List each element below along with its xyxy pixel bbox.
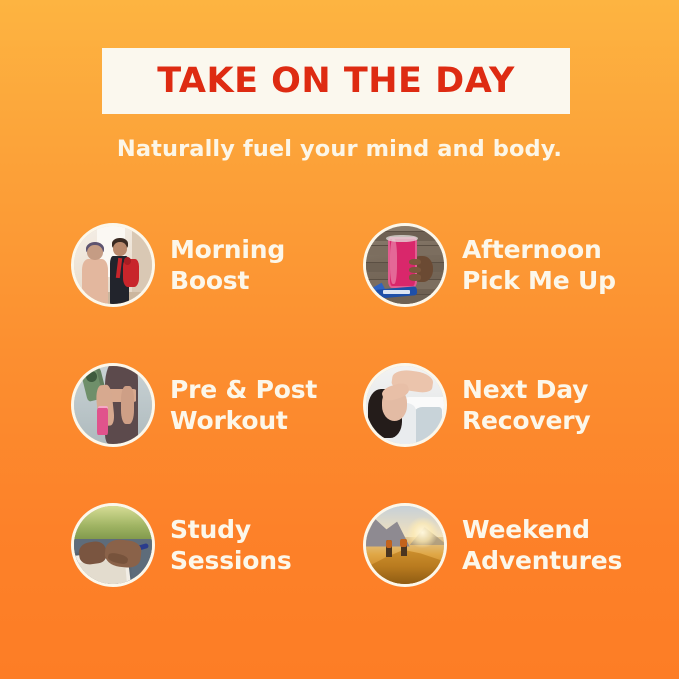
page-title: TAKE ON THE DAY [157,64,515,99]
feature-item-next-day-recovery: Next Day Recovery [363,363,590,447]
feature-item-study-sessions: Study Sessions [71,503,292,587]
next-day-recovery-photo [363,363,447,447]
title-banner: TAKE ON THE DAY [102,48,570,114]
afternoon-pick-me-up-photo [363,223,447,307]
feature-item-weekend-adventures: Weekend Adventures [363,503,622,587]
subtitle: Naturally fuel your mind and body. [0,136,679,162]
feature-label: Weekend Adventures [462,514,622,576]
weekend-adventures-photo [363,503,447,587]
feature-label: Morning Boost [170,234,285,296]
feature-label: Afternoon Pick Me Up [462,234,616,296]
pre-post-workout-photo [71,363,155,447]
feature-label: Study Sessions [170,514,292,576]
study-sessions-photo [71,503,155,587]
feature-item-morning-boost: Morning Boost [71,223,285,307]
feature-label: Next Day Recovery [462,374,590,436]
feature-grid: Morning Boost Afternoon Pick Me Up Pre &… [0,195,679,615]
morning-boost-photo [71,223,155,307]
feature-item-pre-post-workout: Pre & Post Workout [71,363,317,447]
feature-item-afternoon-pick-me-up: Afternoon Pick Me Up [363,223,616,307]
feature-label: Pre & Post Workout [170,374,317,436]
